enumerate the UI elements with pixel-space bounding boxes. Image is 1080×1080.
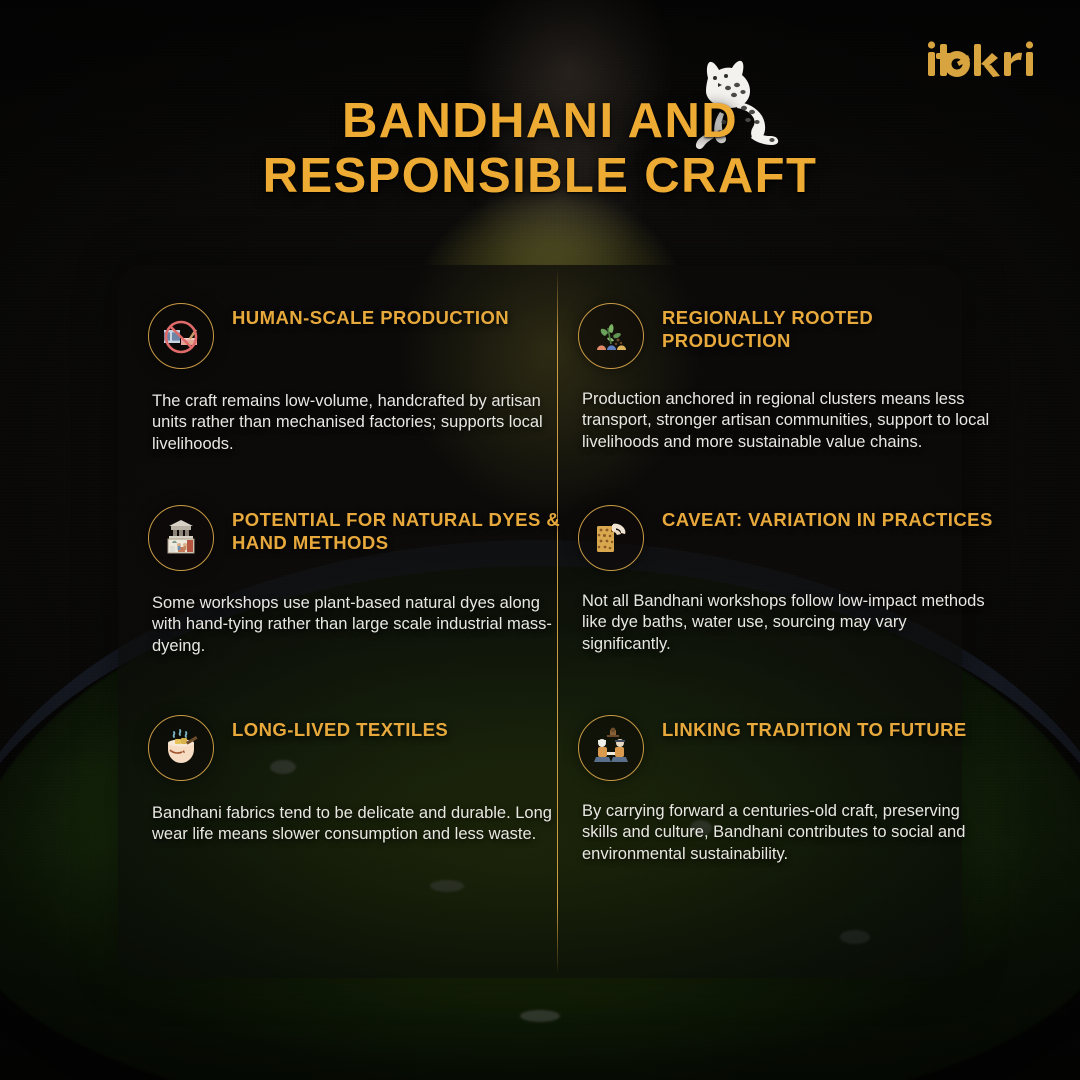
dye-workshop-building-icon [148, 505, 214, 571]
point-item-regionally-rooted-production: REGIONALLY ROOTED PRODUCTION Production … [578, 303, 998, 453]
point-item-linking-tradition-to-future: LINKING TRADITION TO FUTURE By carrying … [578, 715, 998, 865]
point-heading: HUMAN-SCALE PRODUCTION [232, 303, 509, 330]
point-body: By carrying forward a centuries-old craf… [578, 801, 998, 865]
title-line-2: RESPONSIBLE CRAFT [120, 149, 960, 204]
dye-pot-steam-icon [148, 715, 214, 781]
point-heading: POTENTIAL FOR NATURAL DYES & HAND METHOD… [232, 505, 568, 554]
hand-holding-patterned-fabric-icon [578, 505, 644, 571]
points-grid: HUMAN-SCALE PRODUCTION The craft remains… [118, 265, 962, 978]
point-heading: LINKING TRADITION TO FUTURE [662, 715, 967, 742]
point-item-long-lived-textiles: LONG-LIVED TEXTILES Bandhani fabrics ten… [148, 715, 568, 846]
point-item-caveat-variation-in-practices: CAVEAT: VARIATION IN PRACTICES Not all B… [578, 505, 998, 655]
point-item-natural-dyes-hand-methods: POTENTIAL FOR NATURAL DYES & HAND METHOD… [148, 505, 568, 657]
brand-logo[interactable] [926, 40, 1044, 84]
title-line-1: BANDHANI AND [120, 94, 960, 149]
no-factory-machine-icon [148, 303, 214, 369]
point-heading: REGIONALLY ROOTED PRODUCTION [662, 303, 998, 352]
point-item-human-scale-production: HUMAN-SCALE PRODUCTION The craft remains… [148, 303, 568, 455]
point-heading: LONG-LIVED TEXTILES [232, 715, 448, 742]
point-body: Production anchored in regional clusters… [578, 389, 998, 453]
point-heading: CAVEAT: VARIATION IN PRACTICES [662, 505, 993, 532]
page-title: BANDHANI AND RESPONSIBLE CRAFT [0, 94, 1080, 204]
two-artisans-icon [578, 715, 644, 781]
seedling-natural-dye-icon [578, 303, 644, 369]
point-body: The craft remains low-volume, handcrafte… [148, 391, 568, 455]
point-body: Some workshops use plant-based natural d… [148, 593, 568, 657]
point-body: Bandhani fabrics tend to be delicate and… [148, 803, 568, 846]
point-body: Not all Bandhani workshops follow low-im… [578, 591, 998, 655]
infographic-poster: BANDHANI AND RESPONSIBLE CRAFT [0, 0, 1080, 1080]
